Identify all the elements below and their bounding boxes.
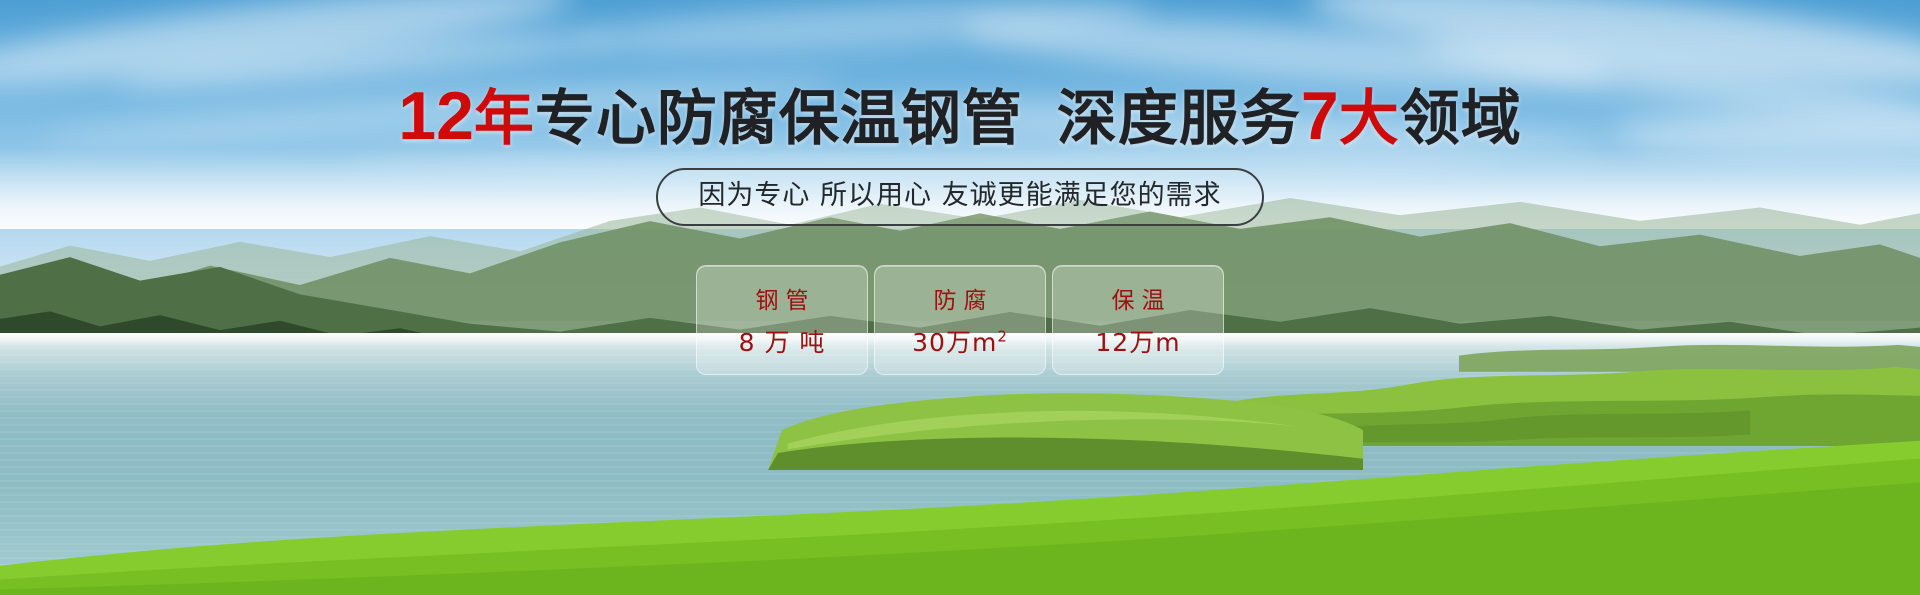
stat-card-value-text: 12万m: [1095, 328, 1180, 357]
stat-cards: 钢管 8 万 吨 防腐 30万m2 保温 12万m: [0, 265, 1920, 375]
stat-card-value-text: 8 万 吨: [739, 328, 826, 357]
subtitle-container: 因为专心 所以用心 友诚更能满足您的需求: [0, 168, 1920, 226]
stat-card-label: 防腐: [927, 281, 994, 315]
headline-secondary-text: 深度服务: [1057, 84, 1301, 154]
stat-card-label: 钢管: [749, 281, 816, 315]
banner-content: 12年专心防腐保温钢管深度服务7大领域 因为专心 所以用心 友诚更能满足您的需求…: [0, 0, 1920, 595]
headline-years-unit: 年: [474, 84, 535, 154]
stat-card-anticorrosion: 防腐 30万m2: [874, 265, 1046, 375]
stat-card-value: 8 万 吨: [739, 323, 826, 359]
stat-card-value: 30万m2: [912, 323, 1008, 359]
headline: 12年专心防腐保温钢管深度服务7大领域: [0, 82, 1920, 150]
stat-card-steel-pipe: 钢管 8 万 吨: [696, 265, 868, 375]
headline-years-number: 12: [398, 78, 474, 154]
stat-card-value-text: 30万m: [912, 328, 997, 357]
headline-fields-unit: 大: [1339, 84, 1400, 154]
headline-fields-number: 7: [1301, 78, 1339, 154]
stat-card-insulation: 保温 12万m: [1052, 265, 1224, 375]
headline-main-text: 专心防腐保温钢管: [535, 84, 1023, 154]
subtitle-pill: 因为专心 所以用心 友诚更能满足您的需求: [656, 168, 1263, 226]
promo-banner: 12年专心防腐保温钢管深度服务7大领域 因为专心 所以用心 友诚更能满足您的需求…: [0, 0, 1920, 595]
stat-card-value: 12万m: [1095, 323, 1180, 359]
headline-fields-text: 领域: [1400, 84, 1522, 154]
stat-card-label: 保温: [1105, 281, 1172, 315]
stat-card-value-superscript: 2: [997, 328, 1008, 346]
